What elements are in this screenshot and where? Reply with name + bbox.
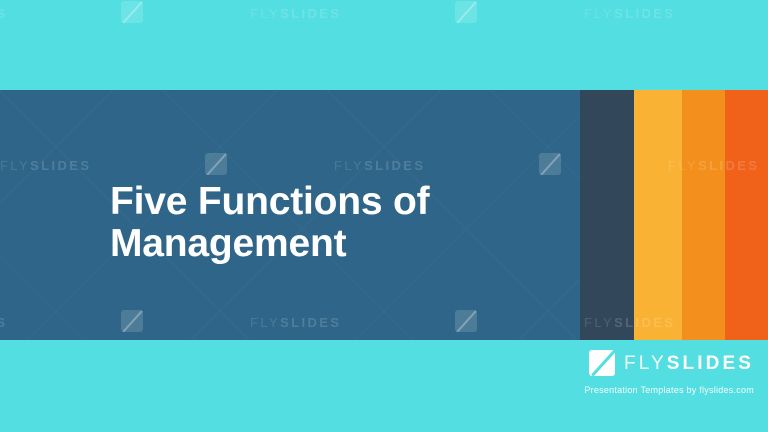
accent-stripe-orange — [682, 90, 725, 340]
accent-stripe-yellow — [634, 90, 682, 340]
accent-stripe-navy — [580, 90, 634, 340]
brand-wordmark-fly: FLY — [624, 353, 667, 374]
title-block: Five Functions of Management — [110, 181, 550, 265]
top-teal-band — [0, 0, 768, 90]
brand-tagline: Presentation Templates by flyslides.com — [584, 385, 754, 395]
footer-brand: FLYSLIDES Presentation Templates by flys… — [584, 350, 754, 395]
brand-wordmark-slides: SLIDES — [667, 353, 754, 374]
brand-wordmark: FLYSLIDES — [624, 354, 754, 373]
brand-lockup: FLYSLIDES — [584, 350, 754, 376]
slide-canvas: Five Functions of Management FLYSLIDES P… — [0, 0, 768, 432]
flyslides-mark-icon — [589, 350, 615, 376]
accent-stripe-deep-orange — [725, 90, 768, 340]
slide-title: Five Functions of Management — [110, 181, 550, 265]
